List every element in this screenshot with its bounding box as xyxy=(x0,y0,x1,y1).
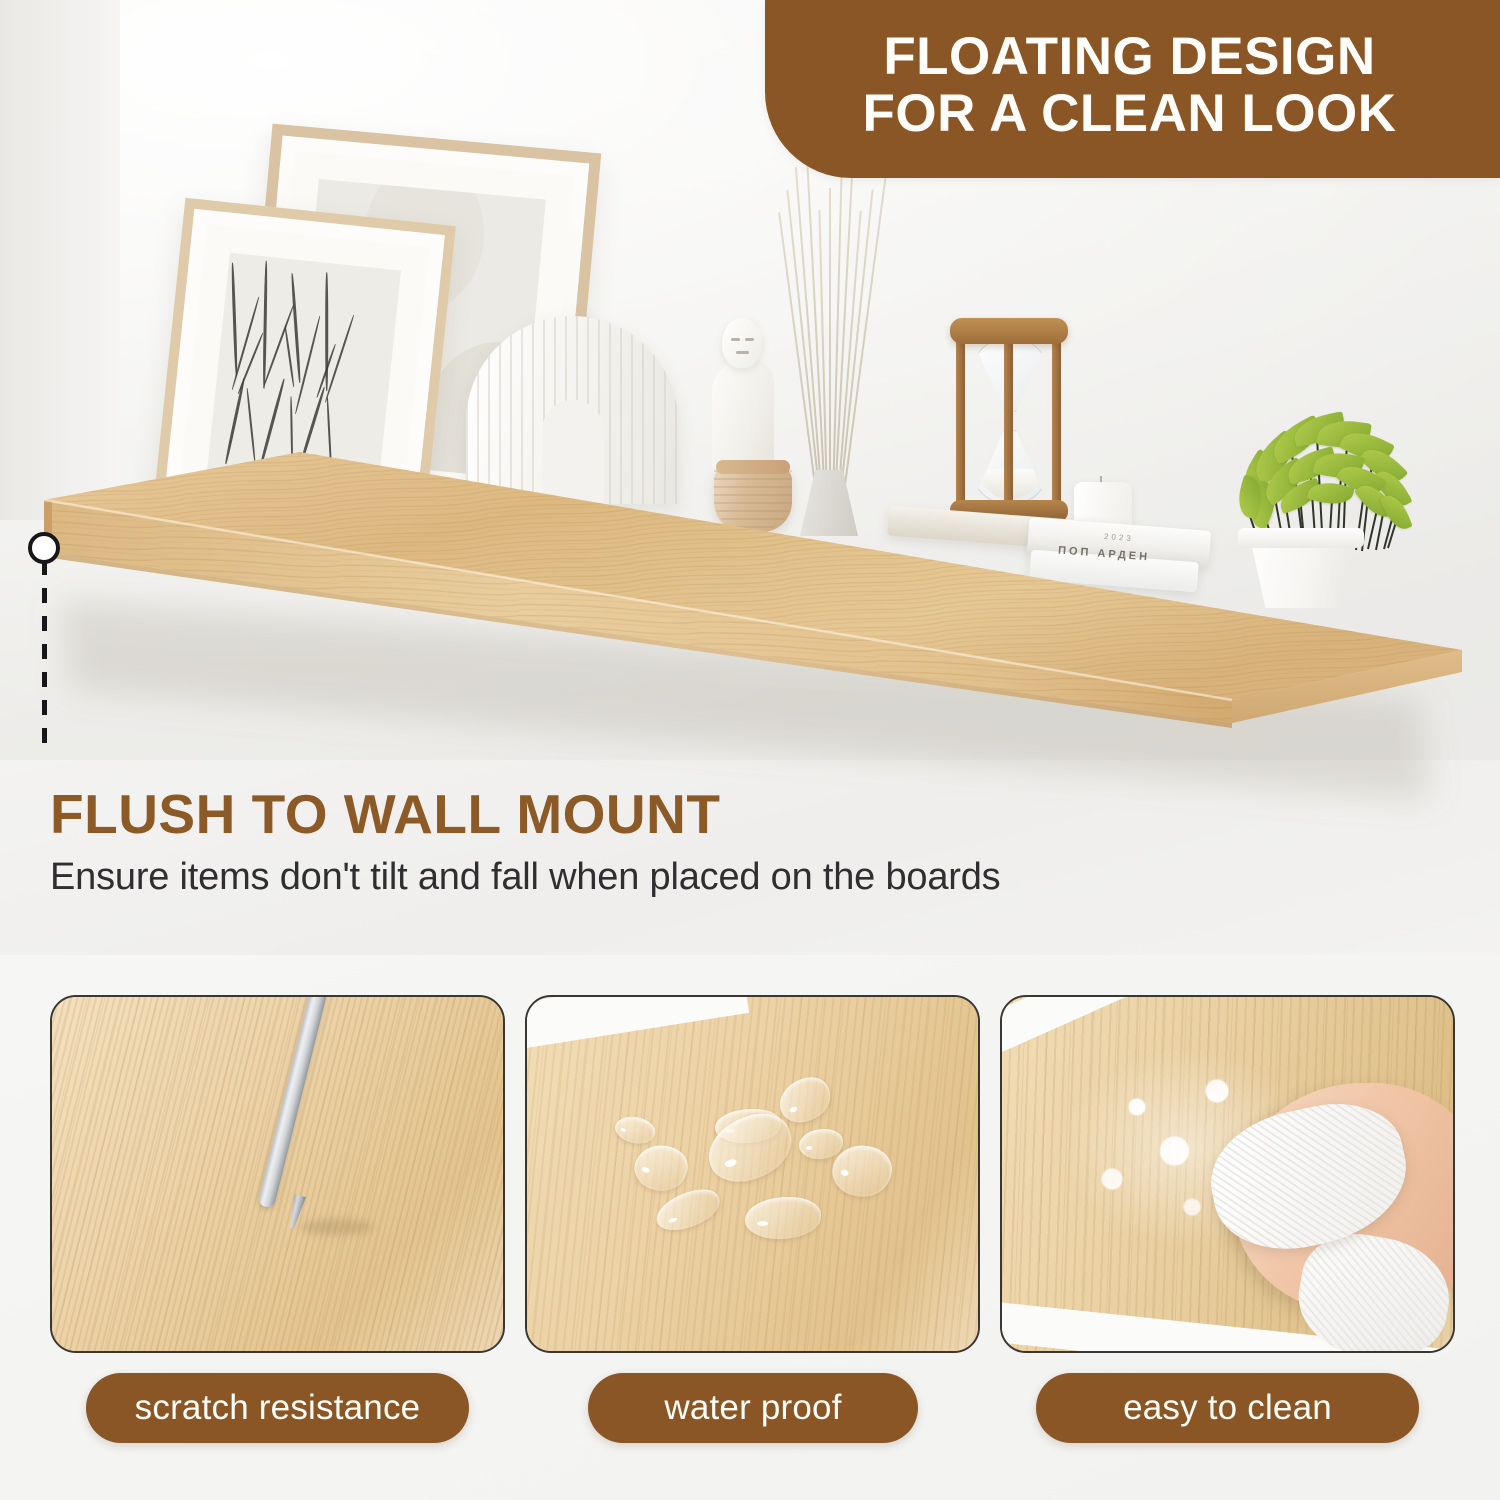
art-brush-stroke xyxy=(231,262,238,376)
hourglass-post-middle xyxy=(1004,330,1013,510)
product-feature-graphic: 2023 ПОП АРДЕН xyxy=(0,0,1500,1500)
art-brush-stroke xyxy=(291,273,302,383)
art-brush-stroke xyxy=(284,326,295,387)
figurine-mouth xyxy=(736,351,749,354)
banner-line-1: FLOATING DESIGN xyxy=(862,28,1396,85)
flush-mount-indicator-dot xyxy=(28,532,60,564)
art-brush-stroke xyxy=(262,305,294,388)
figurine-eye-left xyxy=(731,338,740,341)
feature-panels: scratch resistance water proof easy to c… xyxy=(0,995,1500,1500)
art-brush-stroke xyxy=(224,378,245,465)
plant-pot-rim xyxy=(1238,528,1364,548)
feature-label-water-proof[interactable]: water proof xyxy=(588,1373,918,1443)
hourglass-post-right xyxy=(1052,330,1061,510)
art-brush-stroke xyxy=(246,388,256,463)
callout-dashed-line xyxy=(42,560,47,750)
dried-stem xyxy=(829,188,831,500)
art-brush-stroke xyxy=(326,396,332,475)
feature-panel-easy-to-clean xyxy=(1000,995,1455,1353)
terracotta-pot-rim xyxy=(716,460,790,474)
terracotta-pot-ribs xyxy=(714,470,792,530)
figurine-eye-right xyxy=(745,338,754,341)
feature-panel-water-proof xyxy=(525,995,980,1353)
banner-text: FLOATING DESIGN FOR A CLEAN LOOK xyxy=(842,28,1422,150)
framed-art-front xyxy=(152,198,456,545)
banner-line-2: FOR A CLEAN LOOK xyxy=(862,85,1396,142)
wall-corner-shadow xyxy=(0,0,120,520)
arch-sculpture xyxy=(466,316,678,504)
feature-panel-scratch-resistance xyxy=(50,995,505,1353)
art-brush-stroke xyxy=(258,378,286,472)
hourglass-top-cap xyxy=(950,318,1068,344)
art-brush-stroke xyxy=(297,387,326,472)
screwdriver-shadow xyxy=(300,1219,374,1235)
art-brush-stroke xyxy=(237,332,264,394)
art-brush-stroke xyxy=(290,397,293,467)
arch-opening xyxy=(542,400,604,504)
header-banner: FLOATING DESIGN FOR A CLEAN LOOK xyxy=(765,0,1500,178)
feature-label-easy-to-clean[interactable]: easy to clean xyxy=(1036,1373,1419,1443)
page-title: FLUSH TO WALL MOUNT xyxy=(50,782,720,846)
feature-label-scratch-resistance[interactable]: scratch resistance xyxy=(86,1373,469,1443)
hourglass-post-left xyxy=(956,330,965,510)
frame-artwork-lines xyxy=(207,253,401,490)
figurine-head xyxy=(722,318,762,368)
art-brush-stroke xyxy=(263,261,268,389)
page-subtitle: Ensure items don't tilt and fall when pl… xyxy=(50,856,1000,899)
